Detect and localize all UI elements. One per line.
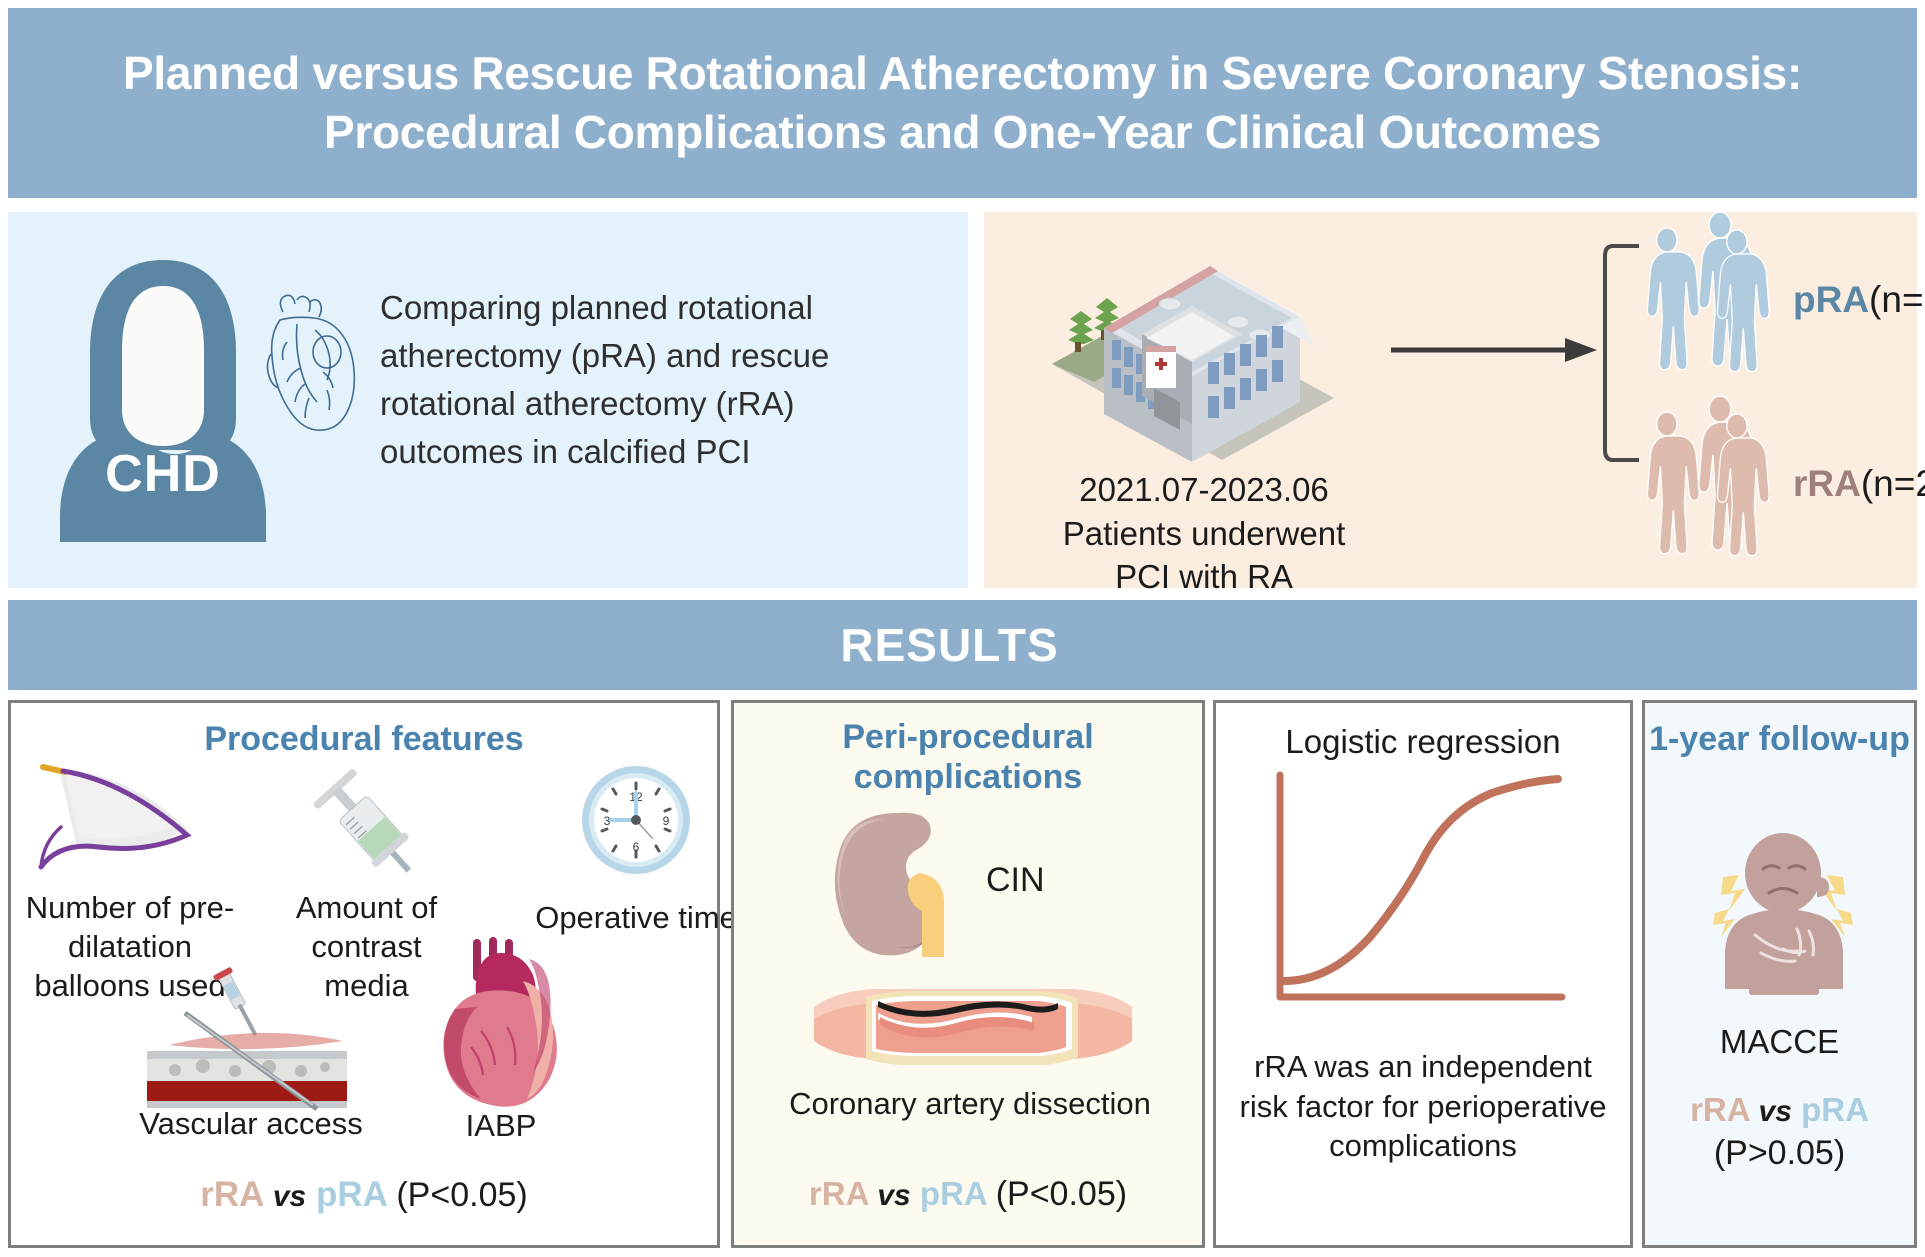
clock-icon: 12 3 9 6 bbox=[571, 755, 701, 885]
rra-people-icon bbox=[1644, 394, 1779, 574]
panel-4-item-0-label: MACCE bbox=[1645, 1021, 1914, 1062]
results-label: RESULTS bbox=[840, 618, 1058, 672]
svg-text:6: 6 bbox=[633, 840, 640, 854]
group-rra: rRA(n=27) bbox=[1644, 394, 1925, 574]
group-pra: pRA(n=84) bbox=[1644, 210, 1925, 390]
flow-arrow-icon bbox=[1389, 330, 1604, 370]
panel-4-verdict: rRA vs pRA bbox=[1645, 1091, 1914, 1129]
panel-1-verdict: rRA vs pRA (P<0.05) bbox=[11, 1175, 717, 1215]
panel-4-verdict-vs: vs bbox=[1759, 1095, 1792, 1128]
panel-1-item-2-label: Operative time bbox=[531, 899, 741, 938]
artery-dissection-icon bbox=[808, 971, 1138, 1081]
panel-logistic-regression: Logistic regression rRA was an independe… bbox=[1213, 700, 1633, 1248]
panel-2-verdict-rra: rRA bbox=[809, 1175, 868, 1212]
graphical-abstract: Planned versus Rescue Rotational Atherec… bbox=[0, 0, 1925, 1257]
study-period: 2021.07-2023.06 bbox=[1004, 468, 1404, 512]
panel-procedural-features: Procedural features Number of pre-dilata… bbox=[8, 700, 720, 1248]
study-description: Comparing planned rotational atherectomy… bbox=[380, 284, 920, 475]
panel-2-verdict: rRA vs pRA (P<0.05) bbox=[734, 1175, 1202, 1214]
intro-row: CHD Co bbox=[8, 212, 1917, 588]
cohort-line-2: PCI with RA bbox=[1004, 555, 1404, 599]
syringe-icon bbox=[291, 755, 441, 890]
panel-2-verdict-pvalue: (P<0.05) bbox=[996, 1175, 1127, 1213]
cohort-line-1: Patients underwent bbox=[1004, 512, 1404, 556]
panel-4-verdict-pvalue: (P>0.05) bbox=[1714, 1134, 1845, 1172]
chd-label: CHD bbox=[38, 444, 288, 504]
rra-group-label: rRA(n=27) bbox=[1793, 463, 1925, 505]
panel-1-item-4-label: IABP bbox=[416, 1107, 586, 1146]
heart-iabp-icon bbox=[411, 935, 591, 1115]
balloon-catheter-icon bbox=[25, 745, 265, 890]
logistic-curve-chart bbox=[1266, 769, 1586, 1019]
pra-group-label: pRA(n=84) bbox=[1793, 279, 1925, 321]
heart-anatomy-icon bbox=[253, 294, 363, 449]
panel-3-title: Logistic regression bbox=[1216, 723, 1630, 762]
panel-2-title: Peri-procedural complications bbox=[734, 717, 1202, 797]
panel-1-item-3-label: Vascular access bbox=[81, 1105, 421, 1144]
panel-2-verdict-vs: vs bbox=[877, 1179, 910, 1212]
study-background-panel: CHD Co bbox=[8, 212, 968, 588]
panel-3-conclusion: rRA was an independent risk factor for p… bbox=[1230, 1047, 1616, 1166]
panel-4-verdict-pra: pRA bbox=[1801, 1091, 1869, 1128]
panel-one-year-followup: 1-year follow-up bbox=[1642, 700, 1917, 1248]
pra-people-icon bbox=[1644, 210, 1779, 390]
title-banner: Planned versus Rescue Rotational Atherec… bbox=[8, 8, 1917, 198]
panel-2-item-0-label: CIN bbox=[986, 859, 1126, 902]
results-banner: RESULTS bbox=[8, 600, 1917, 690]
group-split-bracket bbox=[1599, 242, 1645, 464]
panel-1-verdict-pra: pRA bbox=[316, 1175, 387, 1214]
panel-periprocedural-complications: Peri-procedural complications CIN Co bbox=[731, 700, 1205, 1248]
panel-4-pvalue-row: (P>0.05) bbox=[1645, 1133, 1914, 1173]
panel-1-verdict-vs: vs bbox=[273, 1180, 306, 1213]
kidney-icon bbox=[834, 807, 974, 957]
chest-pain-patient-icon bbox=[1693, 831, 1873, 1001]
panel-2-verdict-pra: pRA bbox=[920, 1175, 987, 1212]
svg-text:9: 9 bbox=[663, 814, 670, 828]
panel-4-title: 1-year follow-up bbox=[1645, 719, 1914, 759]
vascular-access-icon bbox=[141, 961, 371, 1111]
hospital-building-icon bbox=[1042, 216, 1342, 466]
cohort-panel: 2021.07-2023.06 Patients underwent PCI w… bbox=[984, 212, 1917, 588]
panel-1-verdict-pvalue: (P<0.05) bbox=[396, 1176, 527, 1214]
chd-patient-icon bbox=[38, 250, 288, 550]
cohort-caption: 2021.07-2023.06 Patients underwent PCI w… bbox=[1004, 468, 1404, 599]
page-title: Planned versus Rescue Rotational Atherec… bbox=[98, 44, 1828, 162]
panel-1-verdict-rra: rRA bbox=[200, 1175, 263, 1214]
panel-2-item-1-label: Coronary artery dissection bbox=[760, 1085, 1180, 1124]
results-panels: Procedural features Number of pre-dilata… bbox=[8, 700, 1917, 1248]
panel-4-verdict-rra: rRA bbox=[1690, 1091, 1749, 1128]
